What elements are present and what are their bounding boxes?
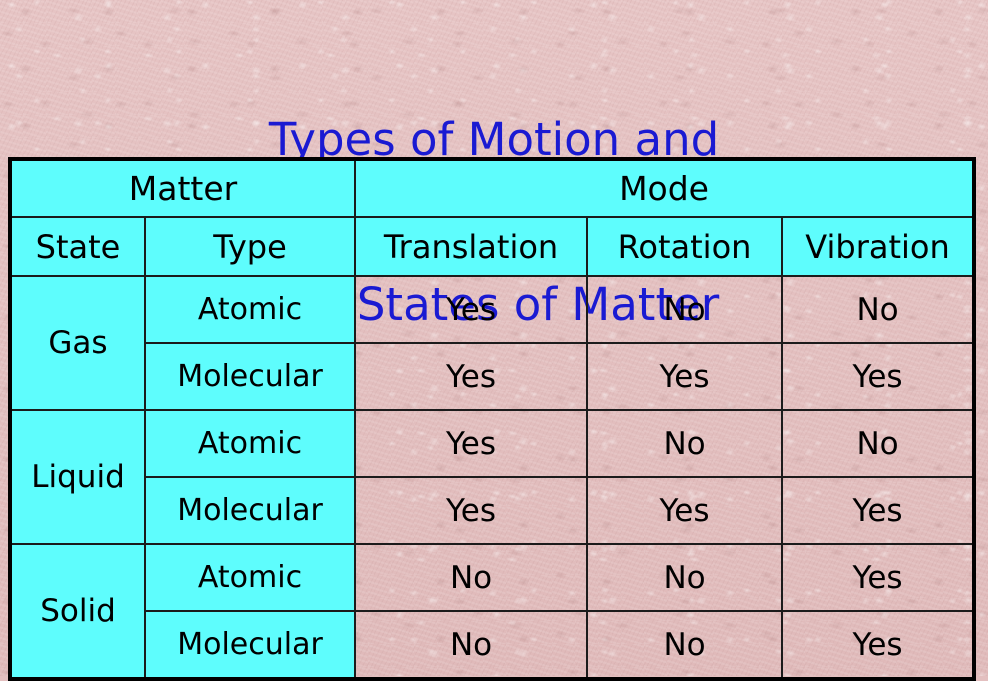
column-header-translation: Translation xyxy=(355,217,587,276)
column-header-state: State xyxy=(10,217,145,276)
value-liquid-molecular-translation: Yes xyxy=(355,477,587,544)
table-row: Liquid Atomic Yes No No xyxy=(10,410,974,477)
table-row: Solid Atomic No No Yes xyxy=(10,544,974,611)
type-cell-gas-atomic: Atomic xyxy=(145,276,355,343)
value-solid-atomic-vibration: Yes xyxy=(782,544,974,611)
motion-states-table: Matter Mode State Type Translation Rotat… xyxy=(8,157,976,681)
value-liquid-atomic-vibration: No xyxy=(782,410,974,477)
type-cell-solid-molecular: Molecular xyxy=(145,611,355,679)
type-cell-gas-molecular: Molecular xyxy=(145,343,355,410)
table-group-header-row: Matter Mode xyxy=(10,159,974,217)
value-solid-atomic-translation: No xyxy=(355,544,587,611)
table-row: Molecular Yes Yes Yes xyxy=(10,477,974,544)
value-liquid-atomic-rotation: No xyxy=(587,410,782,477)
value-gas-atomic-rotation: No xyxy=(587,276,782,343)
value-liquid-molecular-vibration: Yes xyxy=(782,477,974,544)
type-cell-solid-atomic: Atomic xyxy=(145,544,355,611)
group-header-matter: Matter xyxy=(10,159,355,217)
value-solid-molecular-vibration: Yes xyxy=(782,611,974,679)
value-gas-atomic-vibration: No xyxy=(782,276,974,343)
type-cell-liquid-atomic: Atomic xyxy=(145,410,355,477)
value-gas-molecular-vibration: Yes xyxy=(782,343,974,410)
state-cell-gas: Gas xyxy=(10,276,145,410)
value-gas-molecular-rotation: Yes xyxy=(587,343,782,410)
value-liquid-atomic-translation: Yes xyxy=(355,410,587,477)
value-gas-atomic-translation: Yes xyxy=(355,276,587,343)
value-gas-molecular-translation: Yes xyxy=(355,343,587,410)
group-header-mode: Mode xyxy=(355,159,974,217)
value-solid-atomic-rotation: No xyxy=(587,544,782,611)
column-header-vibration: Vibration xyxy=(782,217,974,276)
type-cell-liquid-molecular: Molecular xyxy=(145,477,355,544)
value-solid-molecular-rotation: No xyxy=(587,611,782,679)
table-row: Gas Atomic Yes No No xyxy=(10,276,974,343)
column-header-rotation: Rotation xyxy=(587,217,782,276)
state-cell-solid: Solid xyxy=(10,544,145,679)
state-cell-liquid: Liquid xyxy=(10,410,145,544)
table-column-header-row: State Type Translation Rotation Vibratio… xyxy=(10,217,974,276)
column-header-type: Type xyxy=(145,217,355,276)
table-row: Molecular Yes Yes Yes xyxy=(10,343,974,410)
table-row: Molecular No No Yes xyxy=(10,611,974,679)
value-solid-molecular-translation: No xyxy=(355,611,587,679)
value-liquid-molecular-rotation: Yes xyxy=(587,477,782,544)
